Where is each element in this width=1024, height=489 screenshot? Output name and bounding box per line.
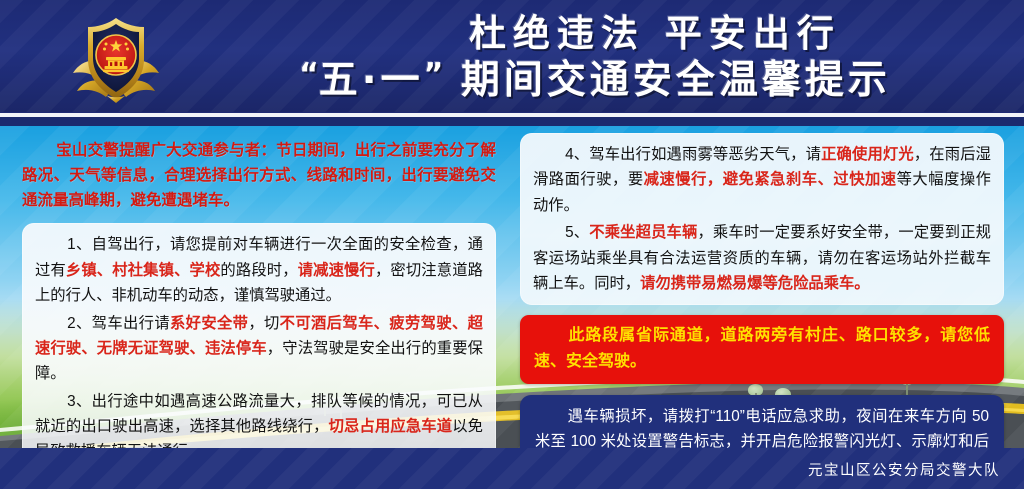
poster-title: 杜绝违法 平安出行 “五·一” 期间交通安全温馨提示: [175, 6, 1015, 108]
item-text: 驾车出行如遇雨雾等恶劣天气，请: [589, 146, 821, 163]
list-item: 4、驾车出行如遇雨雾等恶劣天气，请正确使用灯光，在雨后湿滑路面行驶，要减速慢行，…: [533, 142, 991, 218]
header-divider-navy: [0, 117, 1024, 126]
footer-signature: 元宝山区公安分局交警大队: [808, 459, 1000, 480]
red-alert-box: 此路段属省际通道，道路两旁有村庄、路口较多，请您低速、安全驾驶。: [520, 315, 1004, 384]
list-item: 3、出行途中如遇高速公路流量大，排队等候的情况，可已从就近的出口驶出高速，选择其…: [35, 389, 483, 448]
blue-info-box: 遇车辆损坏，请拨打“110”电话应急求助，夜间在来车方向 50 米至 100 米…: [520, 395, 1004, 448]
title-holiday-name: 五·一: [319, 58, 424, 103]
item-highlight: 系好安全带: [170, 315, 248, 332]
item-highlight: 减速慢行，避免紧急刹车、过快加速: [644, 171, 897, 188]
item-text: ，切: [248, 315, 279, 332]
right-column: 4、驾车出行如遇雨雾等恶劣天气，请正确使用灯光，在雨后湿滑路面行驶，要减速慢行，…: [520, 126, 1004, 448]
poster-footer: 元宝山区公安分局交警大队: [0, 448, 1024, 489]
quote-close: ”: [424, 57, 444, 92]
item-highlight: 正确使用灯光: [821, 146, 914, 163]
item-highlight: 请减速慢行: [298, 262, 375, 279]
item-highlight: 乡镇、村社集镇、学校: [66, 262, 221, 279]
left-items-panel: 1、自驾出行，请您提前对车辆进行一次全面的安全检查，通过有乡镇、村社集镇、学校的…: [22, 223, 496, 448]
poster-root: 杜绝违法 平安出行 “五·一” 期间交通安全温馨提示 宝山交警: [0, 0, 1024, 489]
item-highlight: 不乘坐超员车辆: [589, 224, 697, 241]
item-number: 1、: [67, 236, 92, 253]
content-scene: 宝山交警提醒广大交通参与者：节日期间，出行之前要充分了解路况、天气等信息，合理选…: [0, 126, 1024, 448]
title-line-2: “五·一” 期间交通安全温馨提示: [175, 57, 1015, 105]
item-number: 2、: [67, 315, 92, 332]
title-line-2-rest: 期间交通安全温馨提示: [443, 58, 891, 103]
right-items-panel: 4、驾车出行如遇雨雾等恶劣天气，请正确使用灯光，在雨后湿滑路面行驶，要减速慢行，…: [520, 133, 1004, 305]
item-text: 驾车出行请: [92, 315, 170, 332]
quote-open: “: [299, 57, 319, 92]
left-column: 宝山交警提醒广大交通参与者：节日期间，出行之前要充分了解路况、天气等信息，合理选…: [22, 126, 496, 448]
red-alert-text: 此路段属省际通道，道路两旁有村庄、路口较多，请您低速、安全驾驶。: [534, 327, 990, 369]
police-badge-icon: [68, 11, 164, 107]
item-highlight: 切忌占用应急车道: [329, 418, 453, 435]
list-item: 1、自驾出行，请您提前对车辆进行一次全面的安全检查，通过有乡镇、村社集镇、学校的…: [35, 232, 483, 308]
intro-text: 宝山交警提醒广大交通参与者：节日期间，出行之前要充分了解路况、天气等信息，合理选…: [22, 142, 496, 209]
item-highlight: 请勿携带易燃易爆等危险品乘车。: [640, 275, 869, 292]
item-number: 4、: [565, 146, 589, 163]
intro-paragraph: 宝山交警提醒广大交通参与者：节日期间，出行之前要充分了解路况、天气等信息，合理选…: [22, 138, 496, 213]
item-number: 5、: [565, 224, 589, 241]
title-line-1: 杜绝违法 平安出行: [175, 10, 1015, 57]
item-text: 的路段时，: [220, 262, 297, 279]
list-item: 5、不乘坐超员车辆，乘车时一定要系好安全带，一定要到正规客运场站乘坐具有合法运营…: [533, 220, 991, 296]
poster-header: 杜绝违法 平安出行 “五·一” 期间交通安全温馨提示: [0, 0, 1024, 112]
item-number: 3、: [67, 393, 92, 410]
blue-info-text: 遇车辆损坏，请拨打“110”电话应急求助，夜间在来车方向 50 米至 100 米…: [535, 408, 989, 448]
list-item: 2、驾车出行请系好安全带，切不可酒后驾车、疲劳驾驶、超速行驶、无牌无证驾驶、违法…: [35, 311, 483, 387]
